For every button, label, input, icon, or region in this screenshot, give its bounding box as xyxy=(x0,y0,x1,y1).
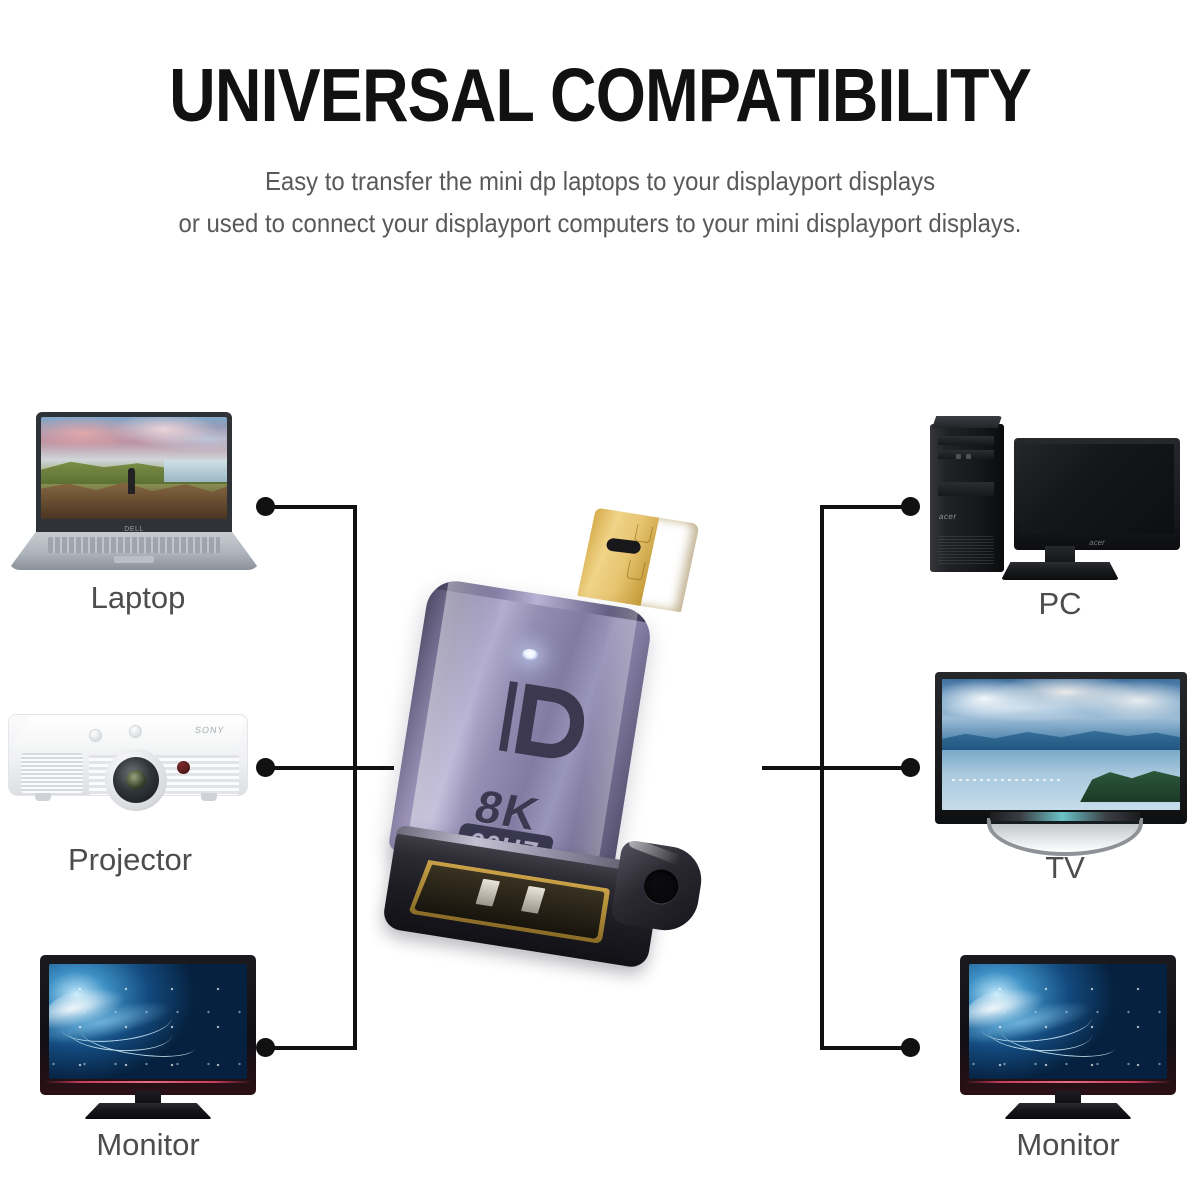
pc-usb-port-1 xyxy=(956,454,961,459)
wire-laptop xyxy=(272,505,357,509)
device-tv: SONY TV xyxy=(935,672,1195,892)
monitor-left-frame xyxy=(40,955,256,1095)
device-monitor-left: Monitor xyxy=(18,955,278,1175)
wire-tv xyxy=(762,766,906,770)
pc-monitor-base xyxy=(1001,562,1119,580)
subtitle-line-1: Easy to transfer the mini dp laptops to … xyxy=(48,160,1152,202)
wire-pc xyxy=(820,505,906,509)
lanyard-loop-highlight xyxy=(628,837,682,866)
pc-optical-bay xyxy=(938,436,994,445)
tv-screen xyxy=(942,679,1180,810)
pc-front-panel xyxy=(938,482,994,496)
page-subtitle: Easy to transfer the mini dp laptops to … xyxy=(48,160,1152,244)
label-pc: PC xyxy=(930,586,1190,622)
pc-tower: acer xyxy=(930,424,1004,572)
projector-foot-right xyxy=(201,793,217,801)
lanyard-loop xyxy=(610,839,706,935)
device-pc: acer acer PC xyxy=(930,418,1190,628)
socket-cavity xyxy=(414,863,605,940)
displayport-logo-icon xyxy=(492,674,596,769)
subtitle-line-2: or used to connect your displayport comp… xyxy=(48,202,1152,244)
projector-lens-element xyxy=(126,770,146,790)
wire-projector xyxy=(272,766,394,770)
monitor-left-screen xyxy=(49,964,247,1079)
wire-monitor-right xyxy=(820,1046,906,1050)
lanyard-hole xyxy=(642,867,681,906)
laptop-wallpaper-sky xyxy=(41,417,227,458)
monitor-right-accent-strip xyxy=(964,1081,1172,1083)
tv-wallpaper-mountains xyxy=(942,722,1180,751)
projector-lens xyxy=(113,757,159,803)
pc-tower-top xyxy=(932,416,1002,428)
laptop-trackpad xyxy=(114,556,154,563)
dp-adapter: 8K 60HZ xyxy=(380,515,730,975)
tv-wallpaper-ripples xyxy=(952,779,1061,781)
label-projector: Projector xyxy=(0,842,260,878)
label-monitor-right: Monitor xyxy=(938,1127,1198,1163)
pc-monitor-frame: acer xyxy=(1014,438,1180,550)
product-infographic: UNIVERSAL COMPATIBILITY Easy to transfer… xyxy=(0,0,1200,1200)
node-monitor-right xyxy=(901,1038,920,1057)
pc-monitor-brand-logo: acer xyxy=(1088,538,1105,547)
laptop-lid: DELL xyxy=(36,412,232,536)
projector-foot-left xyxy=(35,793,51,801)
device-monitor-right: Monitor xyxy=(938,955,1198,1175)
pc-usb-port-2 xyxy=(966,454,971,459)
monitor-right-frame xyxy=(960,955,1176,1095)
monitor-wallpaper-particles xyxy=(49,964,247,1079)
monitor-right-stand xyxy=(1004,1103,1132,1119)
laptop-brand-logo: DELL xyxy=(124,526,144,533)
laptop-wallpaper-hiker xyxy=(128,468,135,494)
tv-frame: SONY xyxy=(935,672,1187,824)
wire-right-spine xyxy=(820,505,824,1050)
projector-button-2 xyxy=(129,725,142,738)
projector-lens-ring xyxy=(105,749,167,811)
wire-monitor-left xyxy=(272,1046,357,1050)
label-monitor-left: Monitor xyxy=(18,1127,278,1163)
pc-vent-mesh xyxy=(938,536,994,564)
socket-pin-left xyxy=(476,879,500,907)
laptop-base xyxy=(8,532,260,570)
monitor-left-stand xyxy=(84,1103,212,1119)
laptop-wallpaper-water xyxy=(164,460,227,482)
tv-wallpaper-clouds xyxy=(942,679,1180,726)
pc-monitor-screen xyxy=(1020,444,1174,534)
projector-brand-logo: SONY xyxy=(195,725,226,735)
mini-displayport-plug xyxy=(577,508,699,613)
node-pc xyxy=(901,497,920,516)
plug-front-face xyxy=(577,508,659,606)
monitor-right-wallpaper-particles xyxy=(969,964,1167,1079)
node-tv xyxy=(901,758,920,777)
projector-body: SONY xyxy=(8,714,248,796)
projector-ir-sensor xyxy=(177,761,190,774)
pc-brand-logo: acer xyxy=(938,512,957,521)
label-laptop: Laptop xyxy=(8,580,268,616)
laptop-screen xyxy=(41,417,227,519)
page-title: UNIVERSAL COMPATIBILITY xyxy=(84,58,1116,133)
wire-left-spine xyxy=(353,505,357,1050)
projector-button-1 xyxy=(89,729,102,742)
displayport-socket xyxy=(408,858,610,944)
device-laptop: DELL Laptop xyxy=(8,412,268,622)
label-tv: TV xyxy=(935,850,1195,886)
laptop-keyboard xyxy=(48,537,219,553)
device-projector: SONY Projector xyxy=(0,690,260,900)
tv-stand-bar xyxy=(990,812,1140,821)
projector-vent xyxy=(21,753,83,793)
socket-pin-right xyxy=(521,886,545,914)
monitor-right-screen xyxy=(969,964,1167,1079)
monitor-left-accent-strip xyxy=(44,1081,252,1083)
